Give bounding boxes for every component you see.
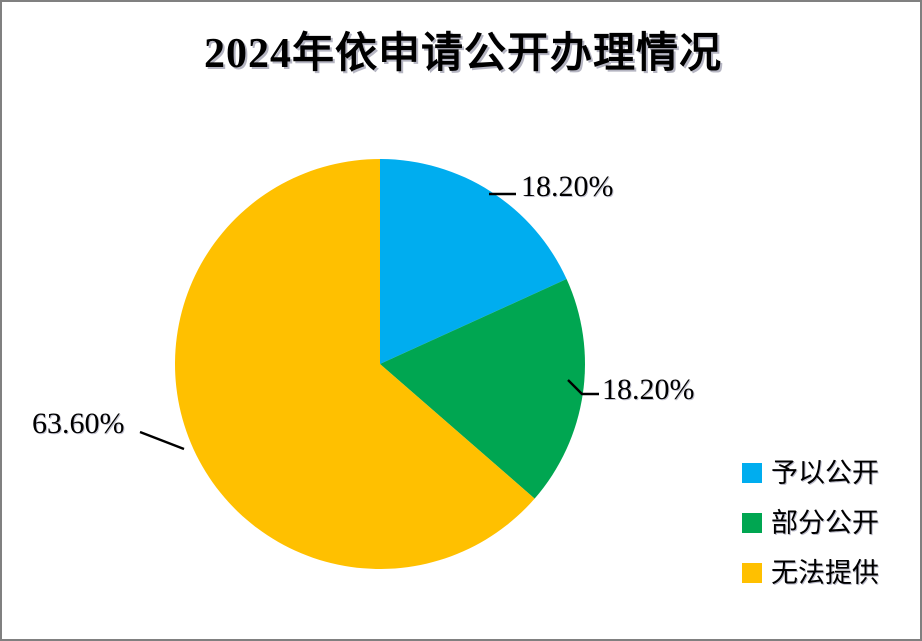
data-label-slice-2: 63.60% [32,407,125,441]
data-label-slice-0: 18.20% [521,170,614,204]
data-label-slice-1: 18.20% [602,373,695,407]
legend-item-2[interactable]: 无法提供 [742,548,912,598]
legend: 予以公开 部分公开 无法提供 [742,448,912,598]
legend-item-label: 部分公开 [771,508,879,538]
legend-item-1[interactable]: 部分公开 [742,498,912,548]
legend-item-0[interactable]: 予以公开 [742,448,912,498]
chart-page: 2024年依申请公开办理情况 18.20% 18.20% 63.60% 予以公开… [0,0,922,641]
legend-swatch-icon [742,463,762,483]
legend-item-label: 予以公开 [771,458,879,488]
legend-item-label: 无法提供 [771,558,879,588]
legend-swatch-icon [742,563,762,583]
leader-line-2 [140,432,184,449]
legend-swatch-icon [742,513,762,533]
